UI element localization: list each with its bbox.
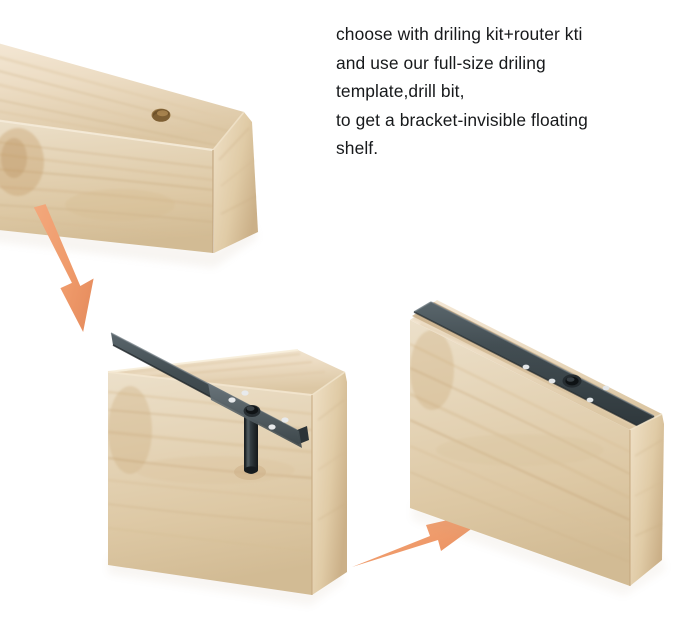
instruction-line-1: choose with driling kit+router kti xyxy=(336,20,676,49)
instruction-graphic: choose with driling kit+router kti and u… xyxy=(0,0,679,630)
instruction-line-5: shelf. xyxy=(336,134,676,163)
drilled-hole xyxy=(152,109,171,122)
instruction-line-4: to get a bracket-invisible floating xyxy=(336,106,676,135)
instruction-line-3: template,drill bit, xyxy=(336,77,676,106)
instruction-line-2: and use our full-size driling xyxy=(336,49,676,78)
bracket-center-bolt-hole xyxy=(244,405,261,417)
panel-plank-with-drilled-hole xyxy=(0,38,258,268)
panel-bracket-flush-mounted xyxy=(410,300,666,596)
bracket-center-bolt-hole xyxy=(563,374,582,387)
plank-end-grain xyxy=(630,414,664,586)
panel-bracket-rod-inserted xyxy=(108,333,347,606)
instruction-text-block: choose with driling kit+router kti and u… xyxy=(336,20,676,163)
plank-end-grain xyxy=(312,372,347,595)
